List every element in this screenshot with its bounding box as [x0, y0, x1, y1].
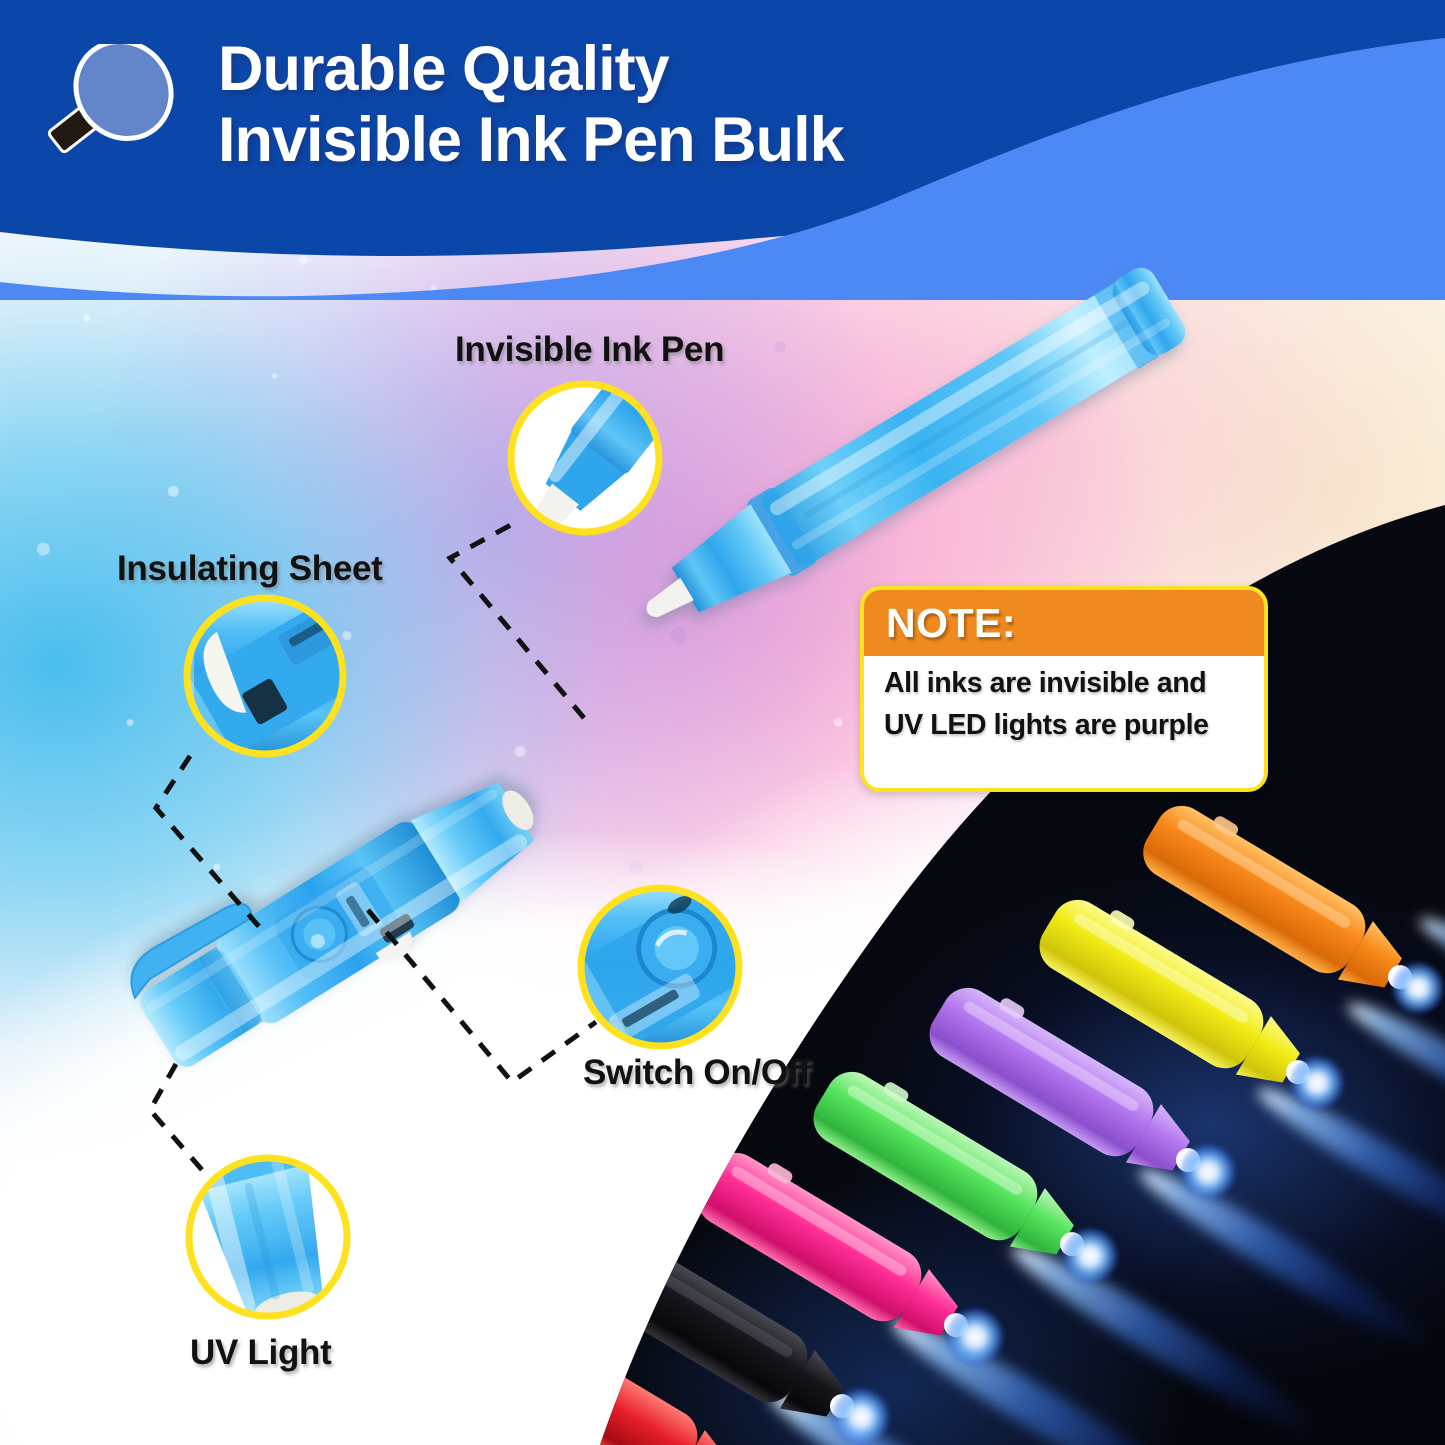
callout-switch-on-off[interactable]: [558, 877, 766, 1058]
leader-insulating-sheet: [156, 756, 262, 930]
callout-label-uv-light: UV Light: [190, 1333, 331, 1373]
note-card-body: All inks are invisible and UV LED lights…: [864, 656, 1264, 742]
note-line-1: All inks are invisible and: [884, 667, 1244, 700]
callout-uv-light[interactable]: [189, 1138, 347, 1335]
note-heading: NOTE:: [886, 600, 1016, 647]
uv-light-pen-body: [118, 739, 560, 1085]
callout-insulating-sheet[interactable]: [149, 566, 382, 770]
leader-invisible-ink-pen: [450, 520, 584, 718]
note-card-header: NOTE:: [864, 590, 1264, 656]
product-infographic: Durable Quality Invisible Ink Pen Bulk: [0, 0, 1445, 1445]
callout-label-insulating-sheet: Insulating Sheet: [117, 549, 383, 589]
callout-label-switch-on-off: Switch On/Off: [583, 1053, 810, 1093]
note-card: NOTE: All inks are invisible and UV LED …: [860, 586, 1268, 792]
leader-uv-light: [150, 1064, 216, 1186]
callout-label-invisible-ink-pen: Invisible Ink Pen: [455, 330, 724, 370]
note-line-2: UV LED lights are purple: [884, 709, 1244, 742]
